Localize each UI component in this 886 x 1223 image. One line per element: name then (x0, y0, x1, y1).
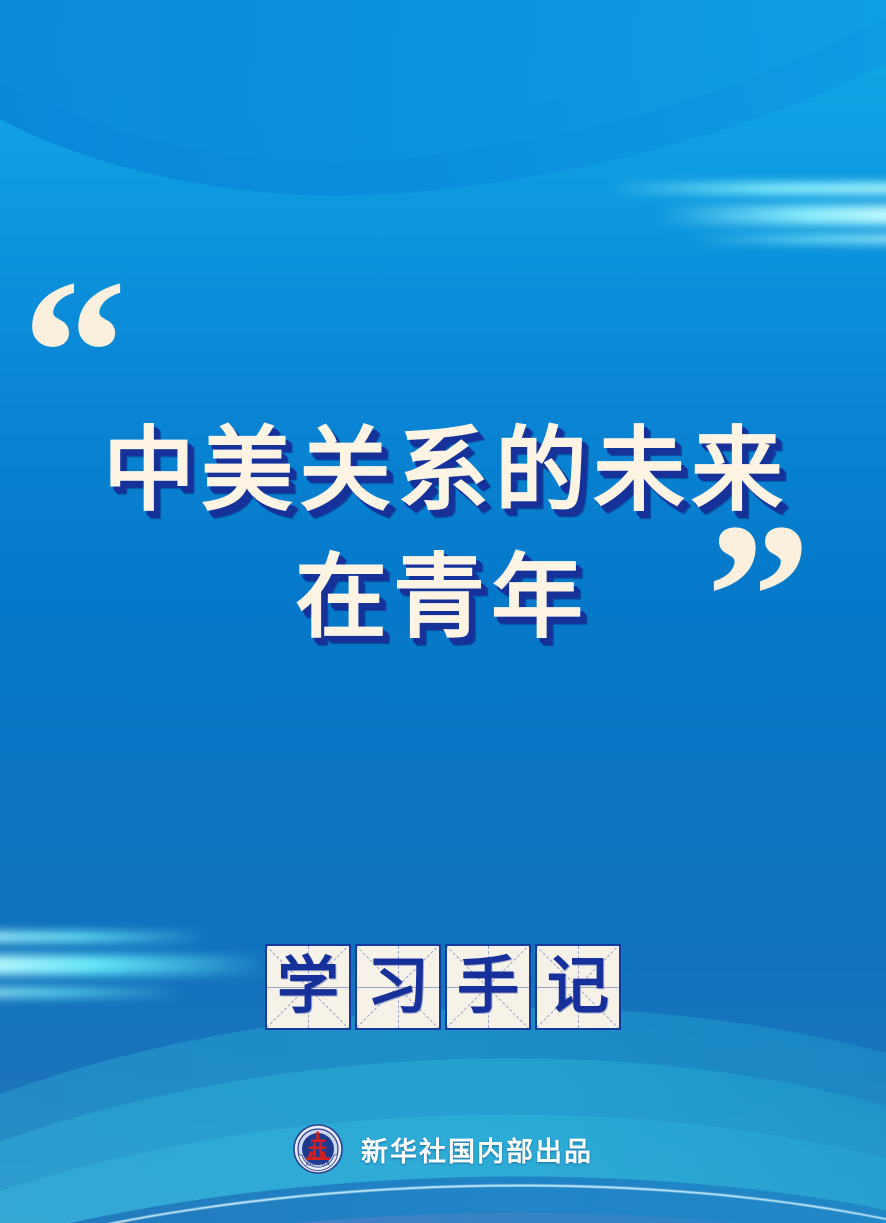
study-notes-grid-row: 学 习 手 记 (0, 944, 886, 1030)
footer: XINHUA 新华社国内部出品 (0, 1124, 886, 1174)
grid-character-3: 手 (447, 946, 529, 1028)
headline-block: 中美关系的未来 在青年 (0, 408, 886, 662)
character-grid-cell-2: 习 (355, 944, 441, 1030)
light-streak-top-right-2 (656, 205, 886, 225)
character-grid-cell-3: 手 (445, 944, 531, 1030)
ribbon-band-blue (0, 0, 886, 255)
light-streak-top-right-3 (691, 235, 886, 243)
headline-line-1: 中美关系的未来 (6, 408, 886, 535)
bottom-arc-violet (0, 1186, 886, 1223)
xinhua-logo-icon: XINHUA (293, 1124, 343, 1174)
grid-character-2: 习 (357, 946, 439, 1028)
ribbon-band-cyan (0, 0, 886, 227)
xinhua-wordmark: XINHUA (305, 1162, 330, 1168)
character-grid-cell-1: 学 (265, 944, 351, 1030)
light-streak-bottom-left-1 (0, 932, 210, 942)
bottom-arc-2 (0, 1019, 886, 1223)
footer-credit-text: 新华社国内部出品 (361, 1130, 593, 1169)
ribbon-band-dark-blue (0, 0, 886, 99)
headline-line-2: 在青年 (0, 535, 886, 662)
grid-character-1: 学 (267, 946, 349, 1028)
character-grid-cell-4: 记 (535, 944, 621, 1030)
light-streak-top-right-1 (606, 183, 886, 194)
grid-character-4: 记 (537, 946, 619, 1028)
ribbon-band-royal-blue (0, 0, 886, 28)
ribbon-band-light-cyan (0, 0, 886, 205)
poster-canvas: “ ” 中美关系的未来 在青年 学 习 手 (0, 0, 886, 1223)
